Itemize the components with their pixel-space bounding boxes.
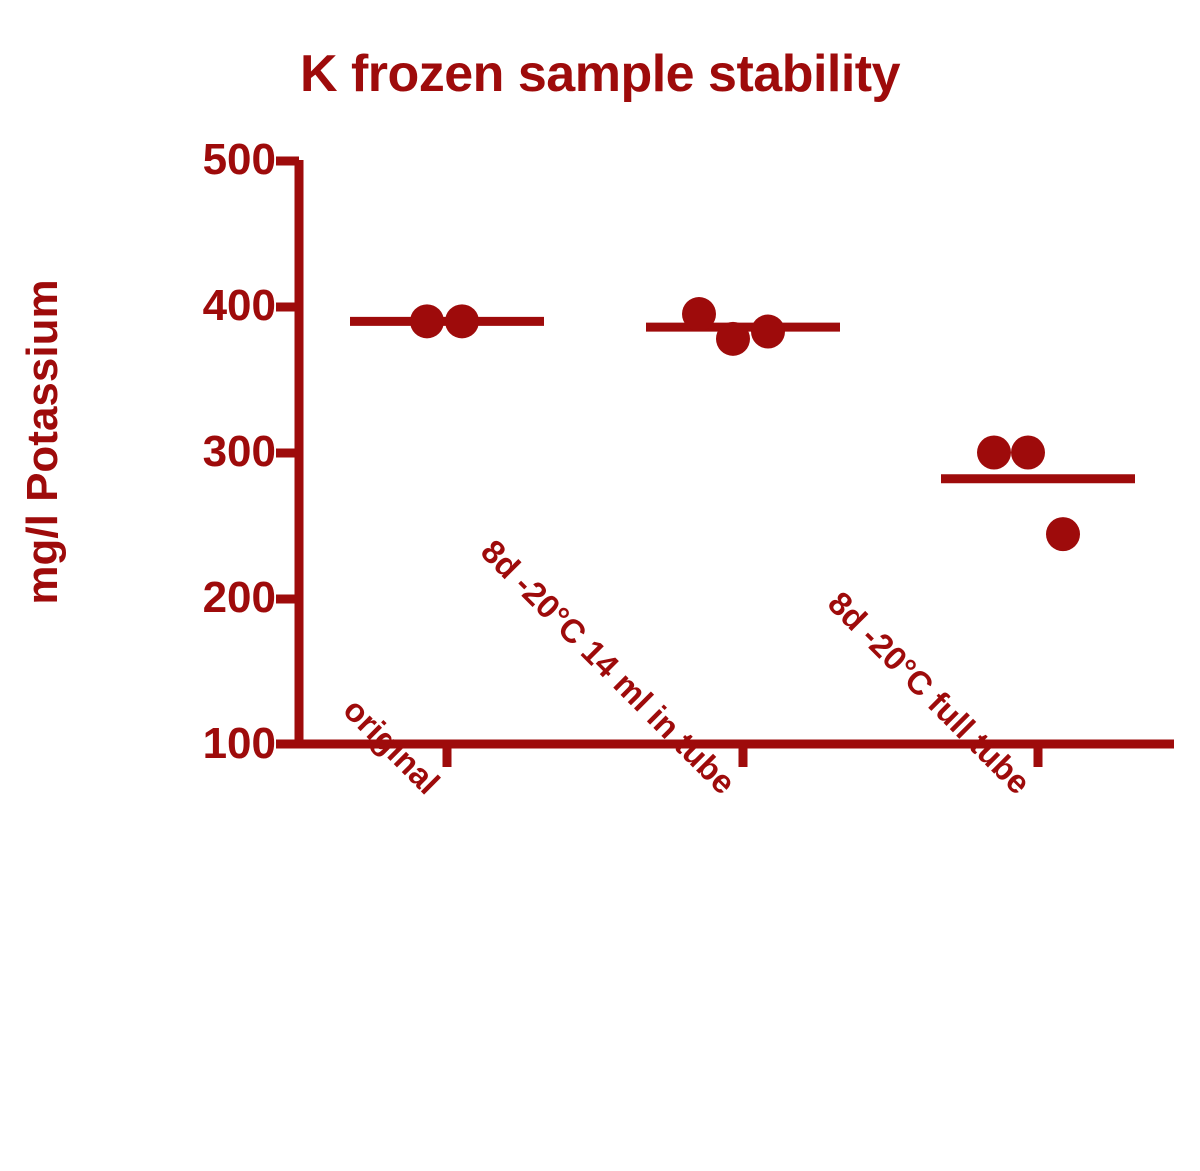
data-point xyxy=(410,304,444,338)
data-point xyxy=(751,315,785,349)
plot-area xyxy=(0,0,1200,1171)
data-point xyxy=(716,322,750,356)
data-point xyxy=(1046,517,1080,551)
chart-canvas: K frozen sample stability mg/l Potassium… xyxy=(0,0,1200,1171)
data-point xyxy=(977,436,1011,470)
data-point xyxy=(1011,436,1045,470)
data-point xyxy=(682,297,716,331)
data-series-layer xyxy=(350,297,1135,551)
data-point xyxy=(445,304,479,338)
